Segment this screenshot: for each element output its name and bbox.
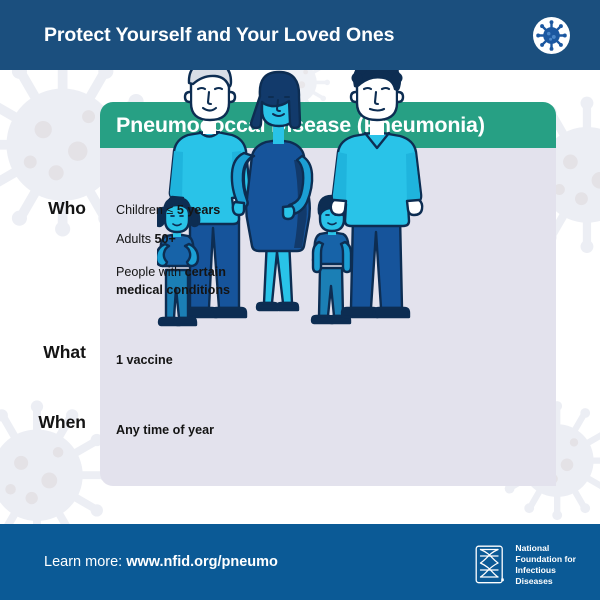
nfid-logo: National Foundation for Infectious Disea… [475, 543, 576, 587]
family-illustration [157, 56, 447, 338]
row-label-what: What [43, 342, 86, 363]
figure-young-man [331, 57, 422, 318]
header-bar: Protect Yourself and Your Loved Ones [0, 0, 600, 70]
nfid-logo-text: National Foundation for Infectious Disea… [515, 543, 576, 587]
nfid-logo-line-2: Foundation for [515, 554, 576, 565]
row-label-who: Who [48, 198, 86, 219]
nfid-url-link[interactable]: www.nfid.org/pneumo [126, 554, 278, 570]
nfid-logo-line-4: Diseases [515, 576, 576, 587]
virus-icon [533, 17, 570, 54]
page-title: Protect Yourself and Your Loved Ones [44, 24, 394, 47]
learn-more-text: Learn more: www.nfid.org/pneumo [44, 554, 278, 570]
dna-helix-icon [475, 545, 508, 584]
nfid-logo-line-1: National [515, 543, 576, 554]
row-labels-column: Who What When [0, 102, 100, 502]
nfid-logo-line-3: Infectious [515, 565, 576, 576]
row-label-when: When [38, 412, 86, 433]
footer-bar: Learn more: www.nfid.org/pneumo Nat [0, 524, 600, 600]
learn-more-label: Learn more: [44, 554, 126, 570]
figure-woman [232, 72, 312, 310]
